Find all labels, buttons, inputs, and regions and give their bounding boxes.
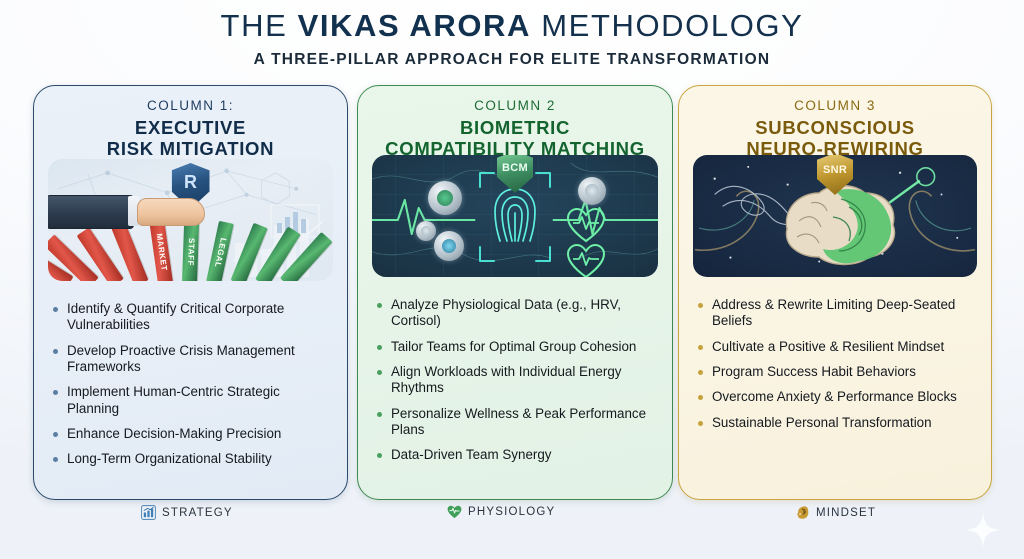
column-3-title: SUBCONSCIOUS NEURO-REWIRING — [679, 117, 991, 160]
bcm-shield-badge: BCM — [497, 155, 533, 193]
column-card-subconscious-neuro-rewiring[interactable]: COLUMN 3 SUBCONSCIOUS NEURO-REWIRING — [678, 85, 992, 500]
footer-mindset: MINDSET — [795, 505, 876, 520]
list-item: Overcome Anxiety & Performance Blocks — [695, 389, 979, 405]
heart-pulse-icon — [566, 243, 606, 277]
columns-container: COLUMN 1: EXECUTIVE RISK MITIGATION — [0, 85, 1024, 500]
hand-illustration — [48, 195, 198, 229]
column-card-biometric-compatibility-matching[interactable]: COLUMN 2 BIOMETRIC COMPATIBILITY MATCHIN… — [357, 85, 673, 500]
column-2-title: BIOMETRIC COMPATIBILITY MATCHING — [358, 117, 672, 160]
snr-shield-badge: SNR — [817, 155, 853, 195]
list-item: Personalize Wellness & Peak Performance … — [374, 406, 660, 439]
column-1-bullet-list: Identify & Quantify Critical Corporate V… — [50, 301, 335, 477]
list-item: Analyze Physiological Data (e.g., HRV, C… — [374, 297, 660, 330]
heart-pulse-icon — [447, 505, 462, 519]
domino-staff: STAFF — [182, 221, 199, 281]
page-title: THE VIKAS ARORA METHODOLOGY — [0, 8, 1024, 44]
heart-pulse-icon — [566, 207, 606, 243]
page-title-pre: THE — [221, 8, 298, 43]
fingerprint-scanner-gears-heartbeat-illustration: BCM — [372, 155, 658, 277]
column-card-executive-risk-mitigation[interactable]: COLUMN 1: EXECUTIVE RISK MITIGATION — [33, 85, 348, 500]
list-item: Implement Human-Centric Strategic Planni… — [50, 384, 335, 417]
gear-icon — [416, 221, 436, 241]
footer-strategy: STRATEGY — [141, 505, 233, 520]
page-header: THE VIKAS ARORA METHODOLOGY A THREE-PILL… — [0, 8, 1024, 69]
snr-shield-badge-text: SNR — [817, 155, 853, 195]
hand-stopping-dominoes-illustration: R MARKET STAFF LEGAL — [48, 159, 333, 281]
list-item: Align Workloads with Individual Energy R… — [374, 364, 660, 397]
column-2-kicker: COLUMN 2 — [358, 98, 672, 113]
footer-physiology-label: PHYSIOLOGY — [468, 506, 555, 518]
page-subtitle: A THREE-PILLAR APPROACH FOR ELITE TRANSF… — [0, 51, 1024, 69]
domino-label-legal: LEGAL — [212, 237, 227, 268]
domino-label-market: MARKET — [154, 233, 168, 272]
column-2-bullet-list: Analyze Physiological Data (e.g., HRV, C… — [374, 297, 660, 473]
column-1-title-line1: EXECUTIVE — [42, 117, 339, 138]
gear-icon — [434, 231, 464, 261]
list-item: Tailor Teams for Optimal Group Cohesion — [374, 339, 660, 355]
list-item: Data-Driven Team Synergy — [374, 447, 660, 463]
column-1-title: EXECUTIVE RISK MITIGATION — [34, 117, 347, 160]
list-item: Develop Proactive Crisis Management Fram… — [50, 343, 335, 376]
column-3-bullet-list: Address & Rewrite Limiting Deep-Seated B… — [695, 297, 979, 440]
column-2-title-line1: BIOMETRIC — [366, 117, 664, 138]
head-brain-icon — [795, 505, 810, 520]
list-item: Cultivate a Positive & Resilient Mindset — [695, 339, 979, 355]
gear-icon — [428, 181, 462, 215]
brain-neural-rewiring-illustration: SNR — [693, 155, 977, 277]
footer-mindset-label: MINDSET — [816, 507, 876, 519]
footer-strategy-label: STRATEGY — [162, 507, 233, 519]
column-3-title-line1: SUBCONSCIOUS — [687, 117, 983, 138]
column-1-kicker: COLUMN 1: — [34, 98, 347, 113]
list-item: Sustainable Personal Transformation — [695, 415, 979, 431]
gear-icon — [578, 177, 606, 205]
list-item: Enhance Decision-Making Precision — [50, 426, 335, 442]
page-title-post: METHODOLOGY — [531, 8, 803, 43]
column-3-kicker: COLUMN 3 — [679, 98, 991, 113]
column-1-title-line2: RISK MITIGATION — [42, 138, 339, 159]
domino-label-staff: STAFF — [186, 238, 196, 266]
bcm-shield-badge-text: BCM — [497, 155, 533, 193]
four-point-star-sparkle — [966, 513, 1000, 547]
page-title-name: VIKAS ARORA — [298, 8, 531, 43]
bar-chart-icon — [141, 505, 156, 520]
footer-labels: STRATEGY PHYSIOLOGY MINDSET — [0, 505, 1024, 535]
list-item: Program Success Habit Behaviors — [695, 364, 979, 380]
footer-physiology: PHYSIOLOGY — [447, 505, 555, 519]
list-item: Long-Term Organizational Stability — [50, 451, 335, 467]
list-item: Identify & Quantify Critical Corporate V… — [50, 301, 335, 334]
list-item: Address & Rewrite Limiting Deep-Seated B… — [695, 297, 979, 330]
